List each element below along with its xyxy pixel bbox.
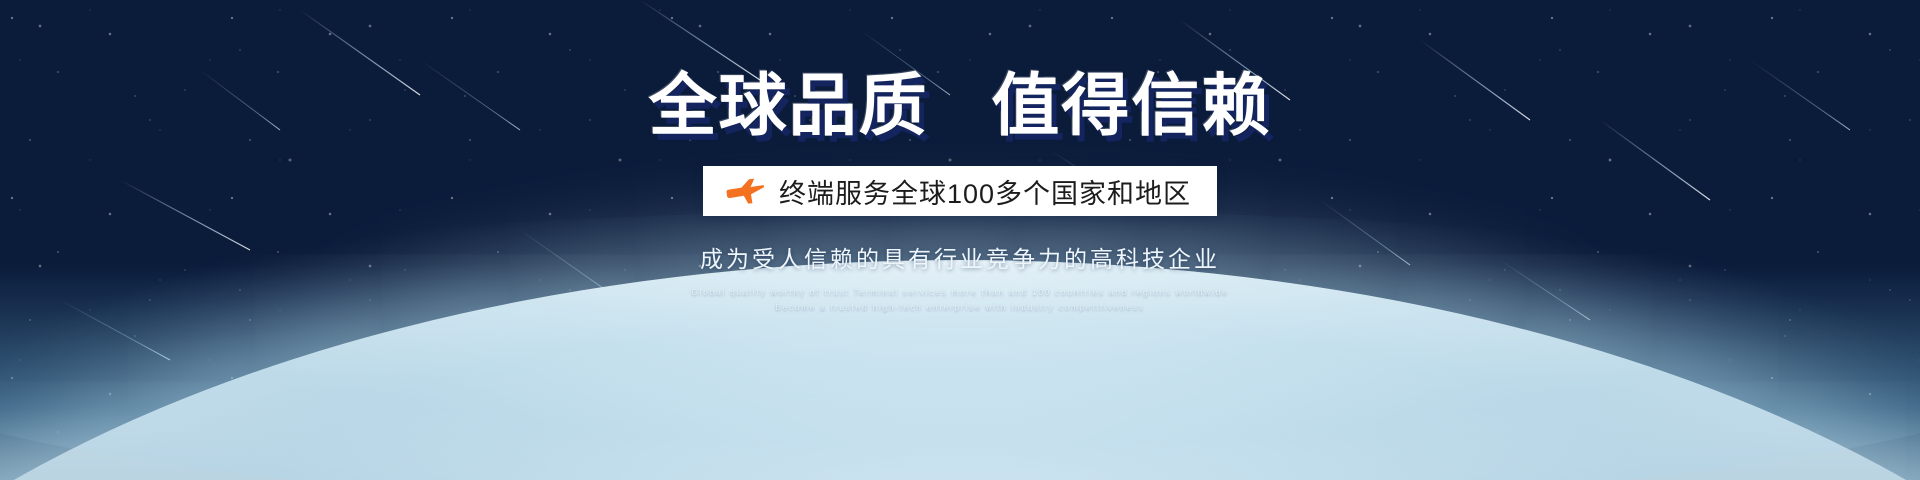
english-tagline-line-2: Become a trusted high-tech enterprise wi… xyxy=(692,301,1229,316)
airplane-icon xyxy=(725,178,765,204)
english-tagline-line-1: Global quality worthy of trust Terminal … xyxy=(692,286,1229,301)
service-coverage-label: 终端服务全球100多个国家和地区 xyxy=(779,172,1191,211)
english-tagline-block: Global quality worthy of trust Terminal … xyxy=(692,286,1229,316)
company-tagline: 成为受人信赖的具有行业竞争力的高科技企业 xyxy=(700,240,1220,274)
page-title: 全球品质 值得信赖 xyxy=(649,72,1272,140)
hero-banner: 全球品质 值得信赖 终端服务全球100多个国家和地区 成为受人信赖的具有行业竞争… xyxy=(0,0,1920,480)
service-coverage-badge: 终端服务全球100多个国家和地区 xyxy=(703,166,1217,216)
banner-content: 全球品质 值得信赖 终端服务全球100多个国家和地区 成为受人信赖的具有行业竞争… xyxy=(0,0,1920,480)
